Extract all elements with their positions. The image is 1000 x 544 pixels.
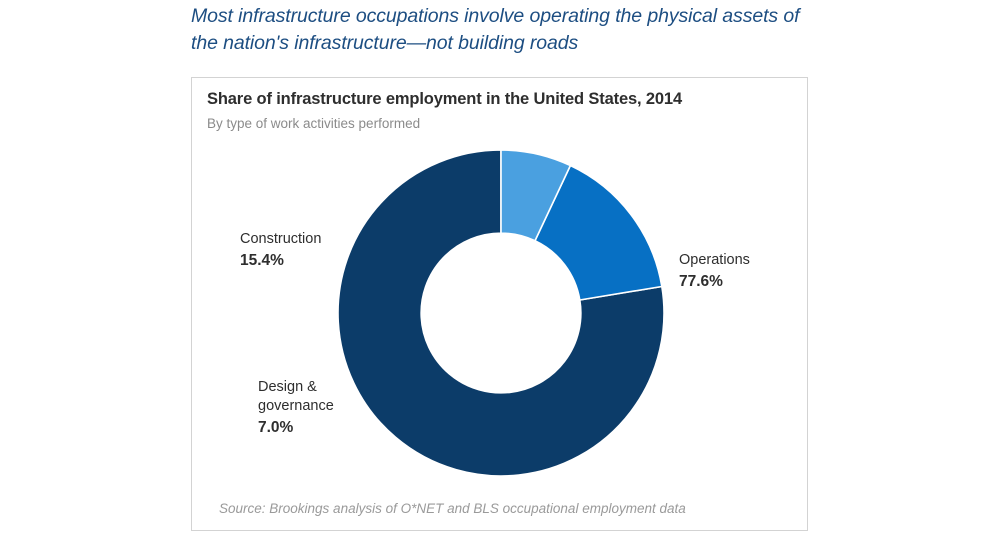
page-headline: Most infrastructure occupations involve …: [191, 3, 831, 57]
donut-svg: [338, 150, 664, 476]
slice-label-design-line1: Design &: [258, 379, 317, 395]
chart-source-note: Source: Brookings analysis of O*NET and …: [219, 501, 686, 516]
slice-label-design-line2: governance: [258, 398, 334, 414]
slice-label-construction-value: 15.4%: [240, 251, 321, 270]
donut-chart: [338, 150, 664, 476]
slice-label-operations: Operations 77.6%: [679, 251, 750, 291]
slice-label-operations-name: Operations: [679, 252, 750, 268]
slice-label-design-value: 7.0%: [258, 418, 334, 437]
chart-subtitle: By type of work activities performed: [207, 116, 420, 131]
slice-label-construction: Construction 15.4%: [240, 230, 321, 270]
slice-label-operations-value: 77.6%: [679, 272, 750, 291]
slice-label-construction-name: Construction: [240, 231, 321, 247]
chart-title: Share of infrastructure employment in th…: [207, 90, 682, 109]
slice-label-design-governance: Design & governance 7.0%: [258, 378, 334, 437]
chart-card: Share of infrastructure employment in th…: [191, 77, 808, 531]
